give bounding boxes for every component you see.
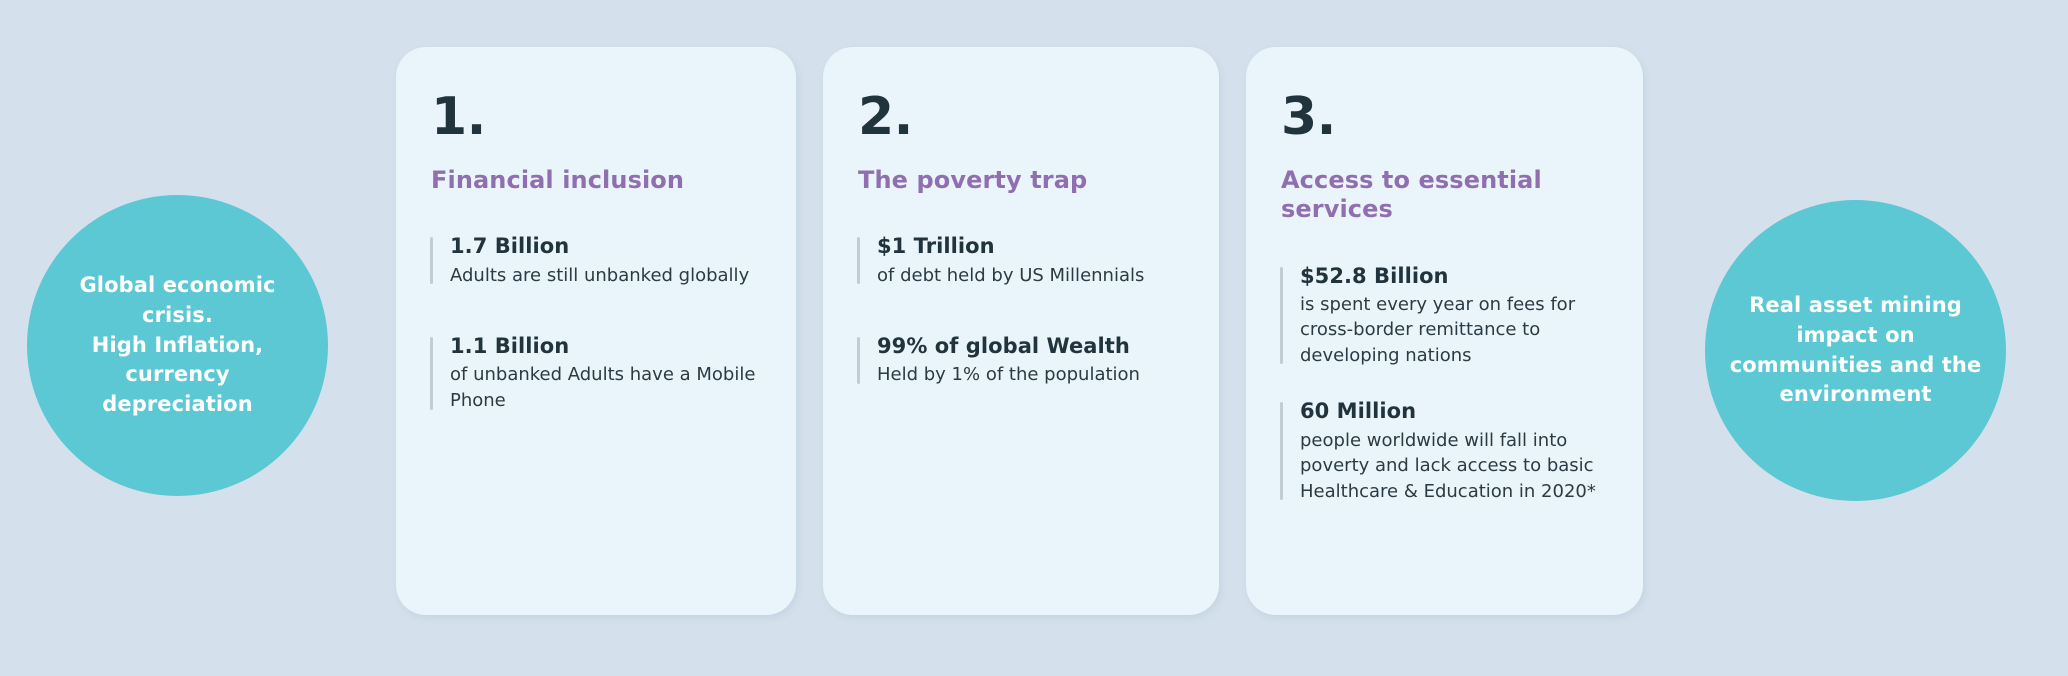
card-2-heading: The poverty trap	[858, 166, 1148, 195]
stat-description: Held by 1% of the population	[877, 362, 1185, 388]
card-2-number: 2.	[858, 91, 1185, 143]
card-1-heading: Financial inclusion	[431, 166, 721, 195]
stat-card-2[interactable]: 2. The poverty trap $1 Trillion of debt …	[823, 47, 1219, 615]
stat-item: 60 Million people worldwide will fall in…	[1280, 398, 1609, 504]
stat-value: $1 Trillion	[877, 233, 1185, 260]
stat-value: 1.7 Billion	[450, 233, 762, 260]
card-3-number: 3.	[1281, 91, 1609, 143]
card-3-heading: Access to essential services	[1281, 166, 1571, 225]
stat-item: 1.1 Billion of unbanked Adults have a Mo…	[430, 333, 762, 413]
stat-value: $52.8 Billion	[1300, 263, 1609, 290]
stat-value: 1.1 Billion	[450, 333, 762, 360]
stat-description: of debt held by US Millennials	[877, 263, 1185, 289]
problem-circle-right-text: Real asset mining impact on communities …	[1705, 291, 2006, 410]
card-1-stats: 1.7 Billion Adults are still unbanked gl…	[430, 233, 762, 413]
stat-item: $1 Trillion of debt held by US Millennia…	[857, 233, 1185, 288]
stat-description: Adults are still unbanked globally	[450, 263, 762, 289]
card-1-number: 1.	[431, 91, 762, 143]
problem-circle-right: Real asset mining impact on communities …	[1705, 200, 2006, 501]
stat-item: 1.7 Billion Adults are still unbanked gl…	[430, 233, 762, 288]
stat-description: people worldwide will fall into poverty …	[1300, 428, 1609, 505]
stat-value: 60 Million	[1300, 398, 1609, 425]
stat-item: 99% of global Wealth Held by 1% of the p…	[857, 333, 1185, 388]
stat-description: is spent every year on fees for cross-bo…	[1300, 292, 1609, 369]
stat-value: 99% of global Wealth	[877, 333, 1185, 360]
problem-circle-left-text: Global economic crisis. High Inflation, …	[27, 271, 328, 420]
stat-item: $52.8 Billion is spent every year on fee…	[1280, 263, 1609, 369]
stat-card-1[interactable]: 1. Financial inclusion 1.7 Billion Adult…	[396, 47, 796, 615]
card-3-stats: $52.8 Billion is spent every year on fee…	[1280, 263, 1609, 505]
card-2-stats: $1 Trillion of debt held by US Millennia…	[857, 233, 1185, 388]
stat-card-3[interactable]: 3. Access to essential services $52.8 Bi…	[1246, 47, 1643, 615]
problem-circle-left: Global economic crisis. High Inflation, …	[27, 195, 328, 496]
infographic-canvas: Global economic crisis. High Inflation, …	[0, 0, 2068, 676]
stat-description: of unbanked Adults have a Mobile Phone	[450, 362, 762, 413]
